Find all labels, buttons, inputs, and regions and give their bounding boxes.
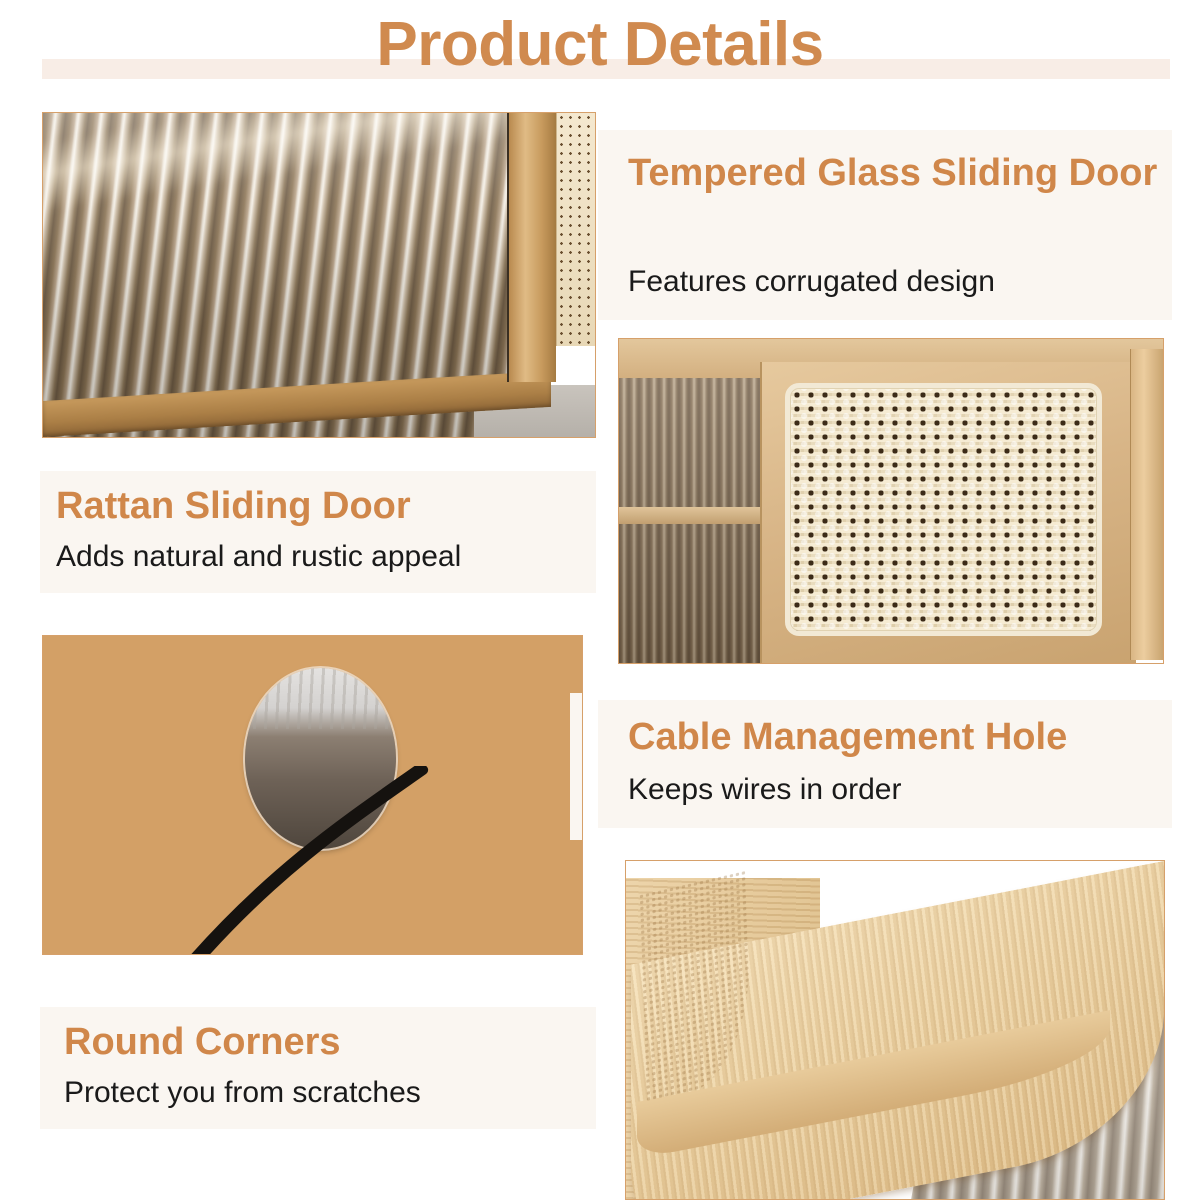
feature-subtext-round-corners: Protect you from scratches (64, 1075, 594, 1111)
bamboo-door-post (507, 113, 557, 382)
rattan-edge-detail (556, 113, 595, 346)
page-title: Product Details (0, 14, 1200, 76)
photo-cable-management-hole (42, 635, 583, 955)
text-panel-tempered-glass-sliding-door: Tempered Glass Sliding Door Features cor… (598, 130, 1172, 320)
feature-heading-round-corners: Round Corners (64, 1021, 594, 1064)
feature-heading-cable-management-hole: Cable Management Hole (628, 716, 1172, 759)
text-panel-rattan-sliding-door: Rattan Sliding Door Adds natural and rus… (40, 471, 596, 593)
hole-interior-reflection (245, 668, 396, 730)
feature-subtext-cable-management-hole: Keeps wires in order (628, 772, 1158, 808)
photo-tempered-glass-sliding-door (42, 112, 596, 438)
feature-subtext-rattan-sliding-door: Adds natural and rustic appeal (56, 539, 586, 575)
photo-3-right-gap (570, 693, 582, 839)
product-details-infographic: Product Details Tempered Glass Sliding D… (0, 0, 1200, 1200)
feature-heading-tempered-glass-sliding-door: Tempered Glass Sliding Door (628, 152, 1158, 195)
feature-heading-rattan-sliding-door: Rattan Sliding Door (56, 485, 586, 528)
interior-shelf (619, 507, 769, 523)
photo-3-content (43, 636, 582, 954)
power-cable (172, 766, 431, 954)
feature-subtext-tempered-glass-sliding-door: Features corrugated design (628, 264, 1158, 300)
photo-4-content (626, 861, 1164, 1199)
text-panel-round-corners: Round Corners Protect you from scratches (40, 1007, 596, 1129)
cabinet-right-frame (1130, 349, 1163, 660)
rattan-sliding-door-frame (760, 362, 1135, 663)
photo-1-content (43, 113, 595, 437)
rattan-cane-webbing (785, 383, 1102, 636)
text-panel-cable-management-hole: Cable Management Hole Keeps wires in ord… (598, 700, 1172, 828)
photo-round-corners (625, 860, 1165, 1200)
photo-2-content (619, 339, 1163, 663)
photo-rattan-sliding-door (618, 338, 1164, 664)
